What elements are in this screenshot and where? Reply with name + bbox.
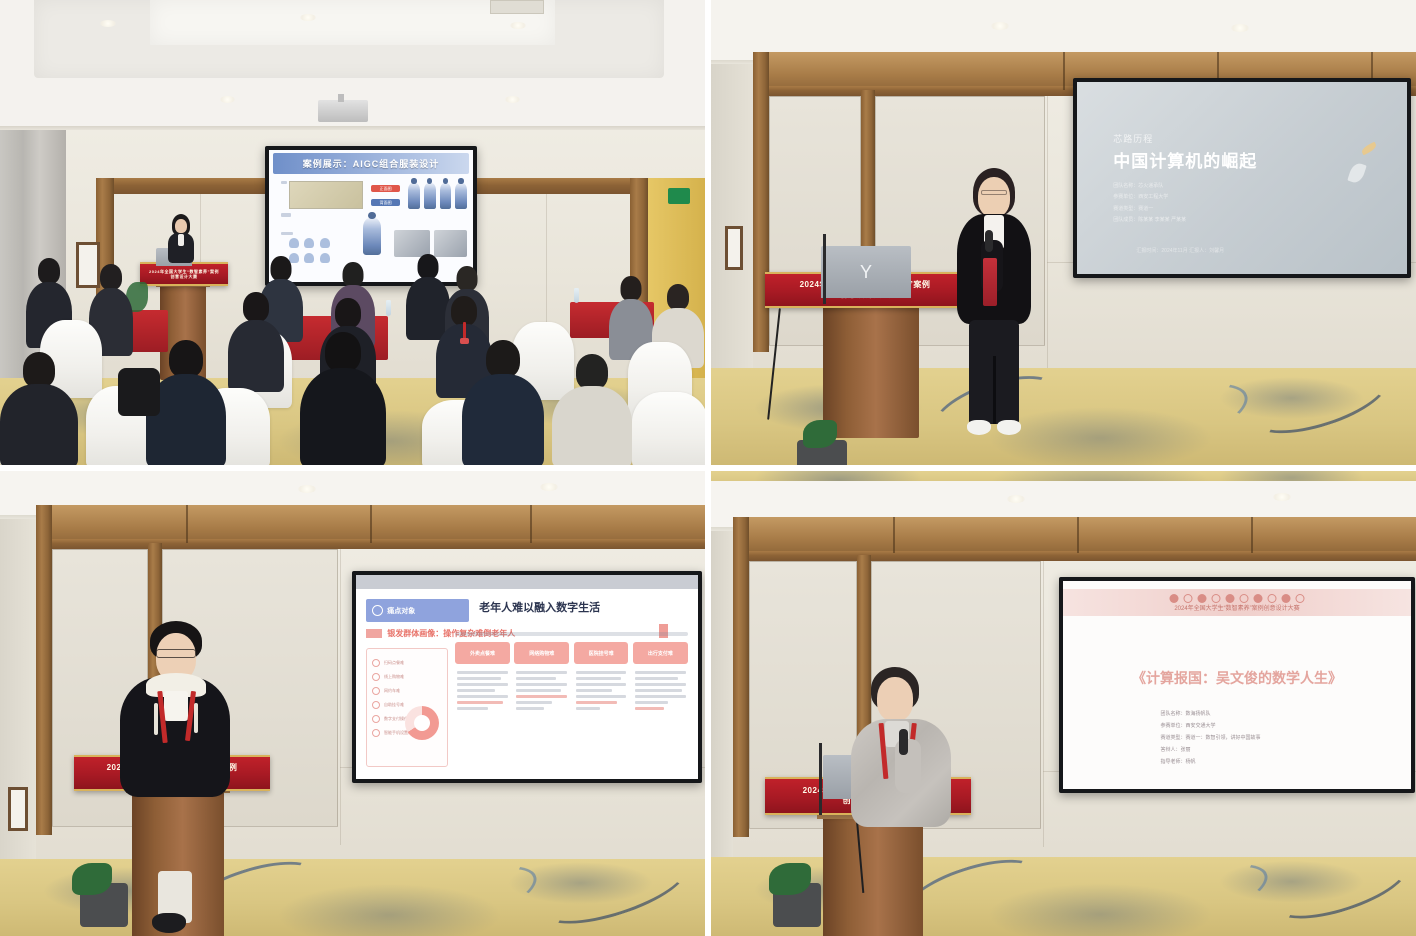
slide-meta-2: 赛道类型：赛道一 <box>1113 205 1153 212</box>
collage-panel-bottom-left: 痛点对象 老年人难以融入数字生活 银发群体画像：操作复杂难倒老年人 扫码点餐难 <box>0 468 708 936</box>
plant-leaves <box>803 420 837 448</box>
ceiling-light-2 <box>300 14 316 21</box>
slide-figure-1 <box>408 183 420 210</box>
exit-sign-icon <box>668 188 690 204</box>
microphone-stand <box>823 234 826 304</box>
wall-seam-1 <box>340 549 341 845</box>
slide-tag-back: 背面图 <box>371 199 400 206</box>
table-body <box>455 668 688 769</box>
slide-meta-0: 团队名称：数海扬帆队 <box>1160 710 1260 717</box>
slide-title-chip: 芯路历程 中国计算机的崛起 团队名称：芯火递承队 参赛单位：西安工程大学 赛道类… <box>1077 82 1407 274</box>
list-item-label: 自助挂号难 <box>384 702 404 708</box>
presenter-glasses-icon <box>981 190 1007 195</box>
slide-leaf-decor-2 <box>1347 161 1366 184</box>
audience-head <box>243 292 269 322</box>
table-header-cell: 网络购物难 <box>514 642 569 663</box>
slide-tag-label: 痛点对象 <box>387 606 415 616</box>
table-cell <box>574 668 629 769</box>
audience-head <box>23 352 55 388</box>
table-header-cell: 医院挂号难 <box>574 642 629 663</box>
ceiling-projector <box>318 100 368 122</box>
shield-icon <box>372 605 383 616</box>
text-line <box>576 689 612 692</box>
wall-seam-1 <box>1043 561 1044 847</box>
audience-head <box>325 332 361 372</box>
text-line <box>516 701 551 704</box>
text-line <box>576 671 627 674</box>
wall-art-frame <box>725 226 743 270</box>
presenter-lanyard-card <box>983 258 997 306</box>
wall-wood-header-lower <box>733 551 1416 561</box>
water-bottle-2 <box>574 288 579 303</box>
plant-leaves <box>72 863 112 895</box>
presenter-shoe-left <box>967 420 991 435</box>
wood-header-seam-2 <box>1077 517 1079 553</box>
text-line <box>576 701 618 704</box>
slide-footer: 汇报时间：2024年11月 汇报人：刘馨月 <box>1136 247 1224 254</box>
wall-left-edge <box>711 531 733 867</box>
audience-body <box>552 386 632 468</box>
wall-seam-1 <box>1047 96 1048 370</box>
slide-eyebrow: 芯路历程 <box>1113 132 1153 145</box>
slide-figure-center <box>363 218 381 255</box>
bullet-icon <box>372 659 380 667</box>
ceiling-light-1 <box>991 22 1009 30</box>
slide-meta-4: 指导老师：杨帆 <box>1160 758 1260 765</box>
slide-meta-3: 答辩人：张丽 <box>1160 746 1260 753</box>
slide-thumb-1 <box>394 230 429 257</box>
bullet-icon <box>372 729 380 737</box>
slide-textline-3 <box>281 232 293 235</box>
text-line <box>635 695 686 698</box>
presenter-head <box>978 177 1010 217</box>
audience-body <box>300 368 386 468</box>
decor-dot-icon <box>1184 594 1193 603</box>
wall-seam-3 <box>546 194 547 328</box>
presenter-shirt <box>178 234 184 246</box>
slide-tinyfig-3 <box>320 238 330 248</box>
bullet-icon <box>372 687 380 695</box>
list-item: 网约车难 <box>372 687 400 695</box>
slide-stats-card: 扫码点餐难 线上购物难 网约车难 自助挂号难 <box>366 648 448 766</box>
slide-elder: 痛点对象 老年人难以融入数字生活 银发群体画像：操作复杂难倒老年人 扫码点餐难 <box>356 575 698 779</box>
collage-panel-top-left: 案例展示：AIGC组合服装设计 正面图 背面图 <box>0 0 708 468</box>
text-line <box>576 707 600 710</box>
slide-textline-2 <box>281 213 291 216</box>
wood-header-seam-1 <box>893 517 895 553</box>
audience-head <box>457 266 478 291</box>
table-header-cell: 外卖点餐难 <box>455 642 510 663</box>
text-line <box>457 695 508 698</box>
slide-table: 外卖点餐难 网络购物难 医院挂号难 出行支付难 <box>455 642 688 768</box>
audience-head <box>621 276 642 301</box>
slide-meta-1: 参赛单位：西安交通大学 <box>1160 722 1260 729</box>
podium <box>823 817 923 936</box>
backpack <box>118 368 160 416</box>
projection-screen-frame: 芯路历程 中国计算机的崛起 团队名称：芯火递承队 参赛单位：西安工程大学 赛道类… <box>1073 78 1411 278</box>
microphone-handheld-icon <box>985 230 993 252</box>
presenter-top-right <box>951 168 1037 448</box>
slide-meta-2: 赛道类型：赛道一：数智引领，讲好中国故事 <box>1160 734 1260 741</box>
presenter-inner-shirt <box>164 691 188 721</box>
list-item: 自助挂号难 <box>372 701 404 709</box>
list-item-label: 网约车难 <box>384 688 400 694</box>
projection-screen: 痛点对象 老年人难以融入数字生活 银发群体画像：操作复杂难倒老年人 扫码点餐难 <box>356 575 698 779</box>
audience-body <box>228 320 284 392</box>
list-item-label: 线上购物难 <box>384 674 404 680</box>
bullet-icon <box>372 715 380 723</box>
presenter-shoe-right <box>997 420 1021 435</box>
ceiling-light-5 <box>505 96 520 103</box>
subheading-marker <box>366 629 382 638</box>
slide-figure-4 <box>455 183 467 210</box>
microphone-handheld-icon <box>899 729 908 755</box>
slide-caption-line <box>455 632 688 636</box>
presenter-leg-gap <box>993 356 996 424</box>
decor-dot-icon <box>1254 594 1263 603</box>
slide-title: 中国计算机的崛起 <box>1113 147 1257 172</box>
presenter-bottom-right <box>851 667 951 827</box>
slide-topbar <box>356 575 698 589</box>
slide-figure-2 <box>424 183 436 210</box>
wall-wood-header <box>733 517 1416 553</box>
text-line <box>516 707 544 710</box>
wall-wood-post-left <box>733 517 749 837</box>
text-line <box>457 671 508 674</box>
audience-body <box>462 374 544 468</box>
text-line <box>516 683 567 686</box>
ac-vent <box>490 0 544 14</box>
donut-chart <box>405 706 439 740</box>
collage-panel-top-right: 芯路历程 中国计算机的崛起 团队名称：芯火递承队 参赛单位：西安工程大学 赛道类… <box>708 0 1416 468</box>
bullet-icon <box>372 701 380 709</box>
audience-head <box>667 284 689 310</box>
audience-member <box>228 292 284 392</box>
presenter-shoe <box>152 913 186 933</box>
slide-thumb-2 <box>434 230 467 257</box>
wall-left-edge <box>711 64 753 376</box>
text-line <box>635 671 686 674</box>
ceiling-light-2 <box>1231 24 1249 32</box>
audience-body <box>0 384 78 468</box>
decor-dot-icon <box>1226 594 1235 603</box>
chair <box>632 392 708 468</box>
slide-tinyfig-5 <box>304 253 314 263</box>
slide-figure-3 <box>440 183 452 210</box>
ceiling-light-1 <box>100 20 116 27</box>
slide-tinyfig-6 <box>320 253 330 263</box>
decor-dot-icon <box>1282 594 1291 603</box>
wall-wood-header-lower <box>36 539 708 549</box>
text-line <box>516 695 567 698</box>
ceiling-light-4 <box>220 96 235 103</box>
table-cell <box>455 668 510 769</box>
plant-leaves <box>769 863 811 895</box>
presenter-top-left <box>164 214 198 274</box>
slide-tag-chip: 痛点对象 <box>366 599 469 621</box>
presenter-drawstring-left <box>154 703 158 735</box>
decor-dot-icon <box>1198 594 1207 603</box>
table-header-cell: 出行支付难 <box>633 642 688 663</box>
text-line <box>516 671 567 674</box>
audience-head <box>576 354 608 390</box>
wall-art-frame <box>8 787 28 831</box>
text-line <box>516 677 556 680</box>
audience-head <box>486 340 520 378</box>
slide-title: 《计算报国：吴文俊的数学人生》 <box>1063 668 1411 688</box>
slide-icon-row <box>1170 594 1305 603</box>
laptop-screen: Y <box>821 246 911 298</box>
ceiling-light-1 <box>298 485 316 493</box>
text-line <box>635 677 678 680</box>
decor-dot-icon <box>1212 594 1221 603</box>
podium <box>823 306 919 438</box>
slide-textline-1 <box>281 181 287 184</box>
slide-meta-3: 团队成员：陈某某 李某某 严某某 <box>1113 216 1186 223</box>
ceiling-light-2 <box>540 483 558 491</box>
slide-tag-front: 正面图 <box>371 185 400 192</box>
slide-heading: 老年人难以融入数字生活 <box>479 599 600 615</box>
wall-wood-post-left <box>36 505 52 835</box>
audience-member <box>462 340 544 468</box>
text-line <box>635 707 664 710</box>
presenter-glasses-icon <box>156 649 196 658</box>
slide-tinyfig-1 <box>289 238 299 248</box>
audience-head <box>418 254 439 279</box>
text-line <box>635 689 682 692</box>
table-header-row: 外卖点餐难 网络购物难 医院挂号难 出行支付难 <box>455 642 688 663</box>
slide-meta-0: 团队名称：芯火递承队 <box>1113 182 1163 189</box>
wood-header-seam-1 <box>186 505 188 543</box>
audience-head <box>343 262 364 287</box>
decor-dot-icon <box>1240 594 1249 603</box>
slide-title: 案例展示：AIGC组合服装设计 <box>273 153 469 174</box>
audience-head <box>271 256 292 281</box>
wood-header-seam-1 <box>1063 52 1065 90</box>
text-line <box>576 695 627 698</box>
presenter-head <box>877 677 913 721</box>
text-line <box>457 701 503 704</box>
table-cell <box>514 668 569 769</box>
projector-mount <box>338 94 344 102</box>
decor-dot-icon <box>1296 594 1305 603</box>
slide-meta-list: 团队名称：数海扬帆队 参赛单位：西安交通大学 赛道类型：赛道一：数智引领，讲好中… <box>1160 710 1260 770</box>
ceiling-light-2 <box>1273 493 1291 501</box>
water-bottle-3 <box>386 300 391 316</box>
ceiling-light-3 <box>510 22 526 29</box>
slide-leaf-decor-1 <box>1361 142 1378 156</box>
presenter-bottom-left <box>120 621 230 801</box>
wood-header-seam-2 <box>370 505 372 543</box>
list-item: 线上购物难 <box>372 673 404 681</box>
text-line <box>516 689 561 692</box>
ceiling-light-1 <box>1007 495 1025 503</box>
slide-tinyfig-2 <box>304 238 314 248</box>
slide-meta-1: 参赛单位：西安工程大学 <box>1113 193 1168 200</box>
audience-head <box>38 258 60 284</box>
decor-dot-icon <box>1170 594 1179 603</box>
presenter-drawstring-right <box>194 703 198 733</box>
audience-member <box>552 354 632 468</box>
text-line <box>635 683 686 686</box>
audience-head <box>335 298 361 328</box>
banner-line-2: 创意设计大赛 <box>171 274 198 279</box>
slide-band-text: 2024年全国大学生“数智素养”案例创意设计大赛 <box>1174 603 1299 612</box>
slide-image-main <box>289 181 363 210</box>
text-line <box>457 707 487 710</box>
projection-screen-frame: 痛点对象 老年人难以融入数字生活 银发群体画像：操作复杂难倒老年人 扫码点餐难 <box>352 571 702 783</box>
table-cell <box>633 668 688 769</box>
slide-header-band: 2024年全国大学生“数智素养”案例创意设计大赛 <box>1063 589 1411 616</box>
text-line <box>576 677 622 680</box>
photo-collage-grid: 案例展示：AIGC组合服装设计 正面图 背面图 <box>0 0 1416 936</box>
microphone-stand <box>819 743 822 815</box>
text-line <box>576 683 627 686</box>
slide-wu: 2024年全国大学生“数智素养”案例创意设计大赛 《计算报国：吴文俊的数学人生》… <box>1063 581 1411 789</box>
audience-member <box>300 332 386 468</box>
laptop-logo: Y <box>860 262 872 283</box>
text-line <box>457 689 494 692</box>
audience-head <box>100 264 122 290</box>
audience-head <box>169 340 203 378</box>
wood-header-seam-3 <box>530 505 532 543</box>
projection-screen: 芯路历程 中国计算机的崛起 团队名称：芯火递承队 参赛单位：西安工程大学 赛道类… <box>1077 82 1407 274</box>
list-item: 扫码点餐难 <box>372 659 404 667</box>
collage-panel-bottom-right: 2024年全国大学生“数智素养”案例创意设计大赛 《计算报国：吴文俊的数学人生》… <box>708 468 1416 936</box>
audience-member <box>0 352 78 468</box>
projection-screen: 2024年全国大学生“数智素养”案例创意设计大赛 《计算报国：吴文俊的数学人生》… <box>1063 581 1411 789</box>
decor-dot-icon <box>1268 594 1277 603</box>
presenter-head <box>175 219 187 233</box>
wood-header-seam-3 <box>1251 517 1253 553</box>
wall-wood-header <box>36 505 708 543</box>
text-line <box>635 701 668 704</box>
slide-org-logo <box>659 624 690 638</box>
text-line <box>457 677 501 680</box>
text-line <box>457 683 508 686</box>
bullet-icon <box>372 673 380 681</box>
projection-screen-frame: 2024年全国大学生“数智素养”案例创意设计大赛 《计算报国：吴文俊的数学人生》… <box>1059 577 1415 793</box>
list-item-label: 扫码点餐难 <box>384 660 404 666</box>
